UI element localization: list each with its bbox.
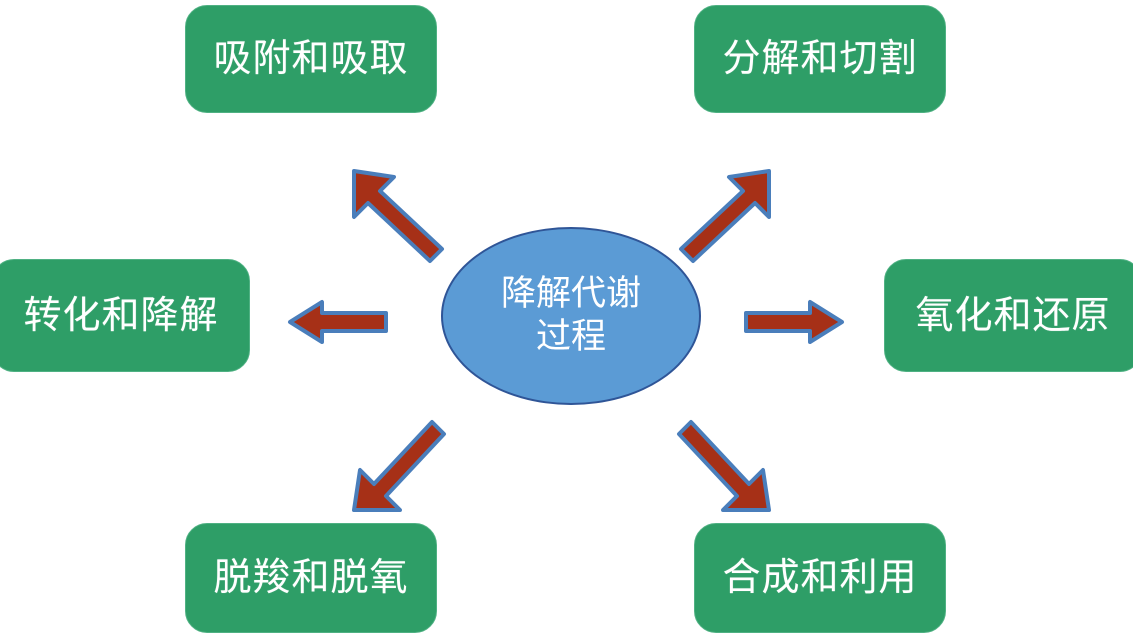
- arrow-right-icon: [742, 297, 846, 347]
- center-node-text: 降解代谢 过程: [501, 273, 641, 358]
- arrow-up-left-icon: [348, 165, 448, 265]
- node-label-right: 氧化和还原: [915, 297, 1110, 335]
- node-label-bottom-left: 脱羧和脱氧: [213, 559, 408, 597]
- arrow-up-right-icon: [675, 165, 775, 265]
- node-box-bottom-right[interactable]: 合成和利用: [694, 523, 946, 633]
- center-label-line-2: 过程: [501, 316, 641, 359]
- diagram-canvas: 吸附和吸取 分解和切割 转化和降解 氧化和还原 脱羧和脱氧 合成和利用 降解代谢…: [0, 0, 1133, 641]
- arrow-down-left-icon: [348, 416, 448, 516]
- node-label-top-right: 分解和切割: [722, 40, 917, 78]
- center-node-ellipse[interactable]: 降解代谢 过程: [441, 227, 701, 405]
- node-label-bottom-right: 合成和利用: [722, 559, 917, 597]
- node-box-left[interactable]: 转化和降解: [0, 259, 250, 372]
- arrow-left-icon: [286, 297, 390, 347]
- arrow-down-right-icon: [675, 416, 775, 516]
- node-label-top-left: 吸附和吸取: [213, 40, 408, 78]
- node-box-right[interactable]: 氧化和还原: [884, 259, 1133, 372]
- node-box-top-right[interactable]: 分解和切割: [694, 5, 946, 113]
- node-box-top-left[interactable]: 吸附和吸取: [185, 5, 437, 113]
- node-box-bottom-left[interactable]: 脱羧和脱氧: [185, 523, 437, 633]
- node-label-left: 转化和降解: [23, 297, 218, 335]
- center-label-line-1: 降解代谢: [501, 273, 641, 316]
